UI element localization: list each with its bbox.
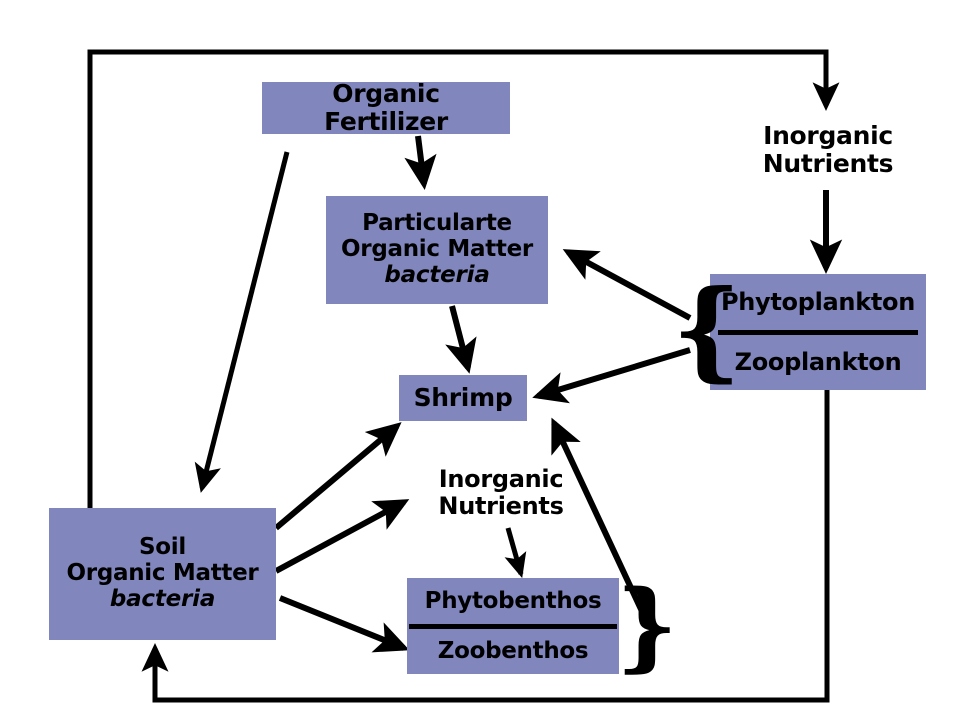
plankton-zooplankton-label: Zooplankton <box>710 335 926 391</box>
edge-plankton-to-shrimp <box>538 350 690 396</box>
soil-sublabel-bacteria: bacteria <box>110 587 215 613</box>
benthos-brace-icon: } <box>616 578 678 674</box>
node-inorganic-nutrients-top: Inorganic Nutrients <box>740 112 916 188</box>
organic-fertilizer-line-1: Organic <box>332 80 439 108</box>
node-soil-organic-matter[interactable]: Soil Organic Matter bacteria <box>49 508 276 640</box>
inorganic-top-line-1: Inorganic <box>763 122 893 150</box>
inorganic-top-line-2: Nutrients <box>763 150 893 178</box>
edge-pom-to-shrimp <box>452 306 468 368</box>
node-benthos[interactable]: Phytobenthos Zoobenthos <box>407 578 619 674</box>
shrimp-label: Shrimp <box>414 384 513 412</box>
pom-line-2: Organic Matter <box>341 237 533 263</box>
benthos-zoobenthos-label: Zoobenthos <box>407 629 619 675</box>
node-organic-fertilizer[interactable]: Organic Fertilizer <box>262 82 510 134</box>
pom-sublabel-bacteria: bacteria <box>384 263 489 289</box>
edge-fertilizer-to-pom <box>418 136 424 184</box>
plankton-brace-icon: { <box>672 276 741 384</box>
node-plankton[interactable]: Phytoplankton Zooplankton <box>710 274 926 390</box>
edge-inorganic-mid-to-benthos <box>508 528 521 574</box>
organic-fertilizer-line-2: Fertilizer <box>324 108 448 136</box>
food-web-diagram: Organic Fertilizer Particularte Organic … <box>0 0 960 728</box>
edge-fertilizer-to-soil <box>202 152 287 488</box>
node-inorganic-nutrients-middle: Inorganic Nutrients <box>416 458 586 528</box>
pom-line-1: Particularte <box>362 211 512 237</box>
inorganic-mid-line-1: Inorganic <box>439 466 564 493</box>
node-particulate-organic-matter[interactable]: Particularte Organic Matter bacteria <box>326 196 548 304</box>
soil-line-2: Organic Matter <box>67 561 259 587</box>
inorganic-mid-line-2: Nutrients <box>438 493 563 520</box>
benthos-phytobenthos-label: Phytobenthos <box>407 578 619 624</box>
node-shrimp[interactable]: Shrimp <box>399 375 527 421</box>
edge-soil-to-benthos <box>280 598 404 648</box>
soil-line-1: Soil <box>139 535 186 561</box>
plankton-phytoplankton-label: Phytoplankton <box>710 274 926 330</box>
